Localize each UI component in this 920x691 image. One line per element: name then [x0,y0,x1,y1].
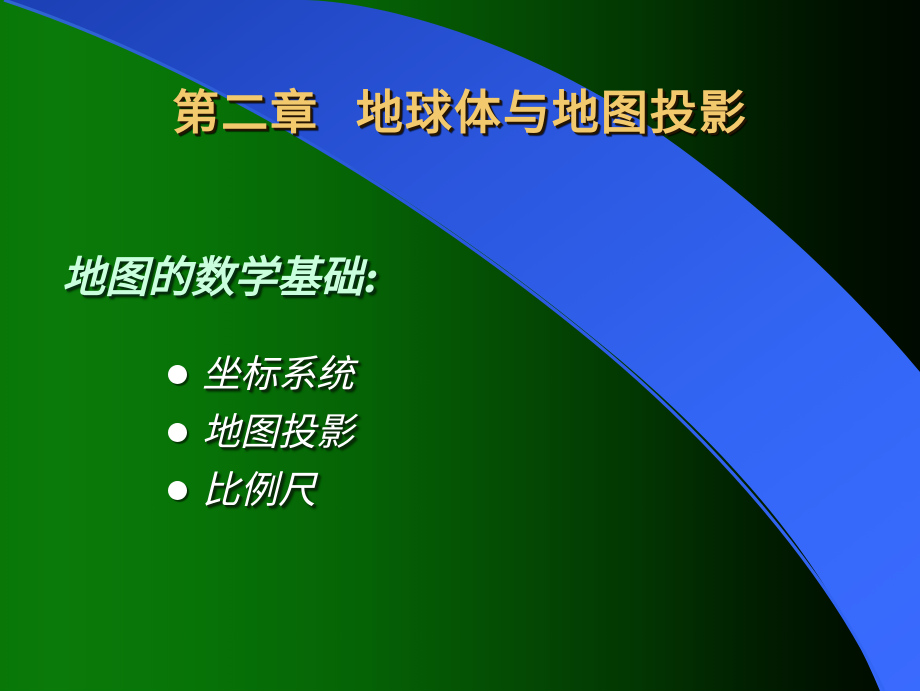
list-item-label: 坐标系统 [202,355,354,393]
filled-circle-bullet-icon [168,365,187,384]
filled-circle-bullet-icon [168,481,187,500]
blue-swoosh-decoration [0,0,920,691]
bullet-list: 坐标系统 地图投影 比例尺 [168,345,354,519]
list-item-label: 地图投影 [202,413,354,451]
filled-circle-bullet-icon [168,423,187,442]
list-item: 比例尺 [168,461,354,519]
list-item-label: 比例尺 [202,471,316,509]
presentation-slide: 第二章 地球体与地图投影 地图的数学基础: 坐标系统 地图投影 比例尺 [0,0,920,691]
list-item: 地图投影 [168,403,354,461]
slide-subtitle-block: 地图的数学基础: [62,243,379,305]
list-item: 坐标系统 [168,345,354,403]
blue-wedge-shape [5,0,920,691]
slide-subtitle: 地图的数学基础: [62,253,379,303]
